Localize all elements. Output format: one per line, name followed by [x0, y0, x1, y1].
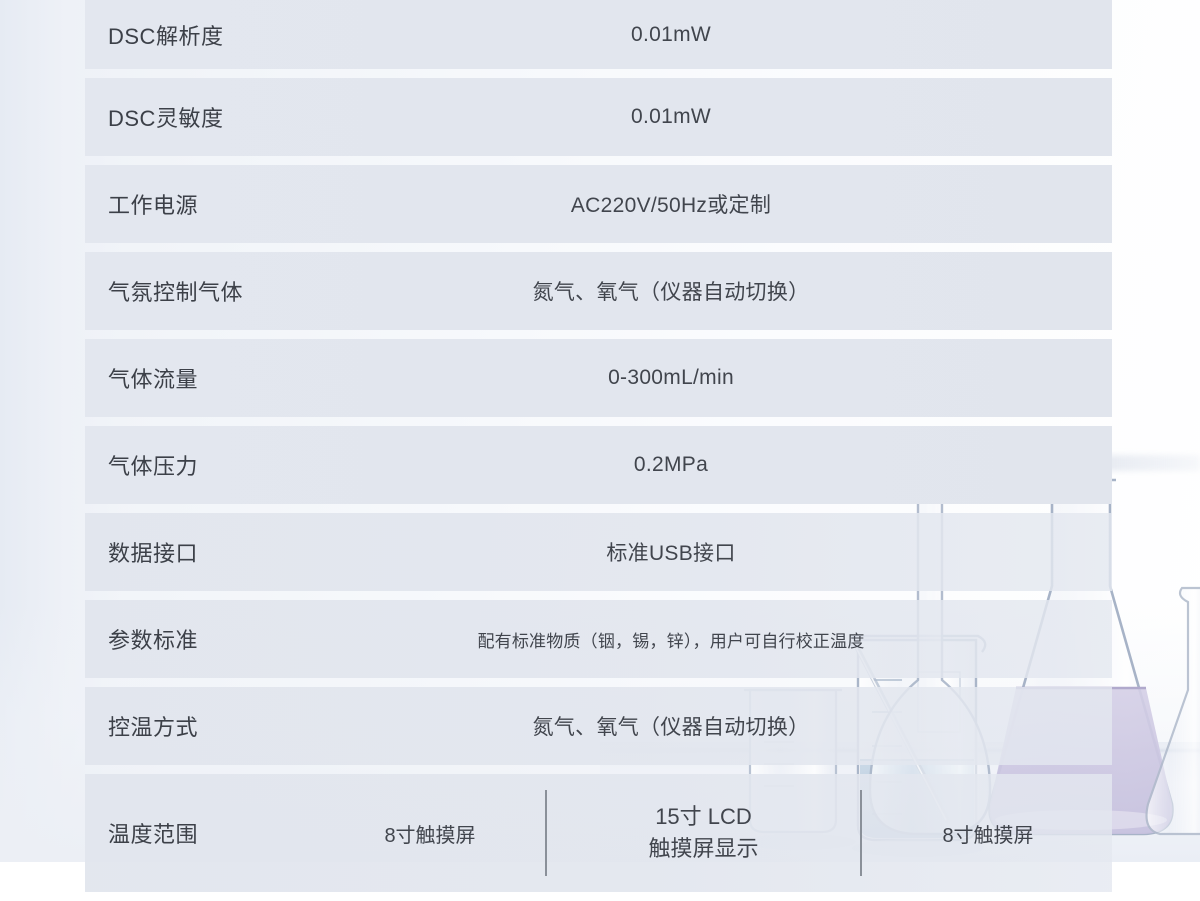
- spec-label: 气体压力: [85, 449, 360, 481]
- spec-value: 标准USB接口: [360, 537, 1112, 567]
- spec-label: 温度范围: [85, 817, 315, 849]
- spec-value: 配有标准物质（铟，锡，锌），用户可自行校正温度: [360, 627, 1112, 652]
- table-row: 气体流量 0-300mL/min: [85, 339, 1112, 417]
- spec-label: 气体流量: [85, 362, 360, 394]
- spec-label: DSC解析度: [85, 19, 360, 51]
- table-row: DSC灵敏度 0.01mW: [85, 78, 1112, 156]
- spec-value: AC220V/50Hz或定制: [360, 189, 1112, 219]
- table-row: 气氛控制气体 氮气、氧气（仪器自动切换）: [85, 252, 1112, 330]
- spec-value: 0.01mW: [360, 105, 1112, 129]
- table-row: 工作电源 AC220V/50Hz或定制: [85, 165, 1112, 243]
- spec-value-screen-b-line1: 15寸 LCD: [655, 804, 752, 829]
- spec-value-screen-b-line2: 触摸屏显示: [547, 833, 860, 865]
- spec-value: 氮气、氧气（仪器自动切换）: [360, 711, 1112, 741]
- table-row: DSC解析度 0.01mW: [85, 0, 1112, 69]
- spec-value-screen-a: 8寸触摸屏: [315, 819, 545, 848]
- spec-value: 0-300mL/min: [360, 366, 1112, 390]
- spec-label: 参数标准: [85, 623, 360, 655]
- spec-value-screen-b: 15寸 LCD 触摸屏显示: [547, 801, 860, 865]
- spec-label: 控温方式: [85, 710, 360, 742]
- spec-label: 数据接口: [85, 536, 360, 568]
- specification-table: DSC解析度 0.01mW DSC灵敏度 0.01mW 工作电源 AC220V/…: [85, 0, 1112, 901]
- table-row: 数据接口 标准USB接口: [85, 513, 1112, 591]
- spec-value-screen-c: 8寸触摸屏: [862, 819, 1112, 848]
- spec-value: 0.01mW: [360, 23, 1112, 47]
- spec-label: 工作电源: [85, 188, 360, 220]
- table-row-final: 温度范围 8寸触摸屏 15寸 LCD 触摸屏显示 8寸触摸屏: [85, 774, 1112, 892]
- table-row: 气体压力 0.2MPa: [85, 426, 1112, 504]
- flask-partial-icon: [1147, 588, 1200, 834]
- table-row: 控温方式 氮气、氧气（仪器自动切换）: [85, 687, 1112, 765]
- spec-value: 氮气、氧气（仪器自动切换）: [360, 276, 1112, 306]
- table-row: 参数标准 配有标准物质（铟，锡，锌），用户可自行校正温度: [85, 600, 1112, 678]
- spec-label: 气氛控制气体: [85, 275, 360, 307]
- spec-label: DSC灵敏度: [85, 101, 360, 133]
- spec-value: 0.2MPa: [360, 453, 1112, 477]
